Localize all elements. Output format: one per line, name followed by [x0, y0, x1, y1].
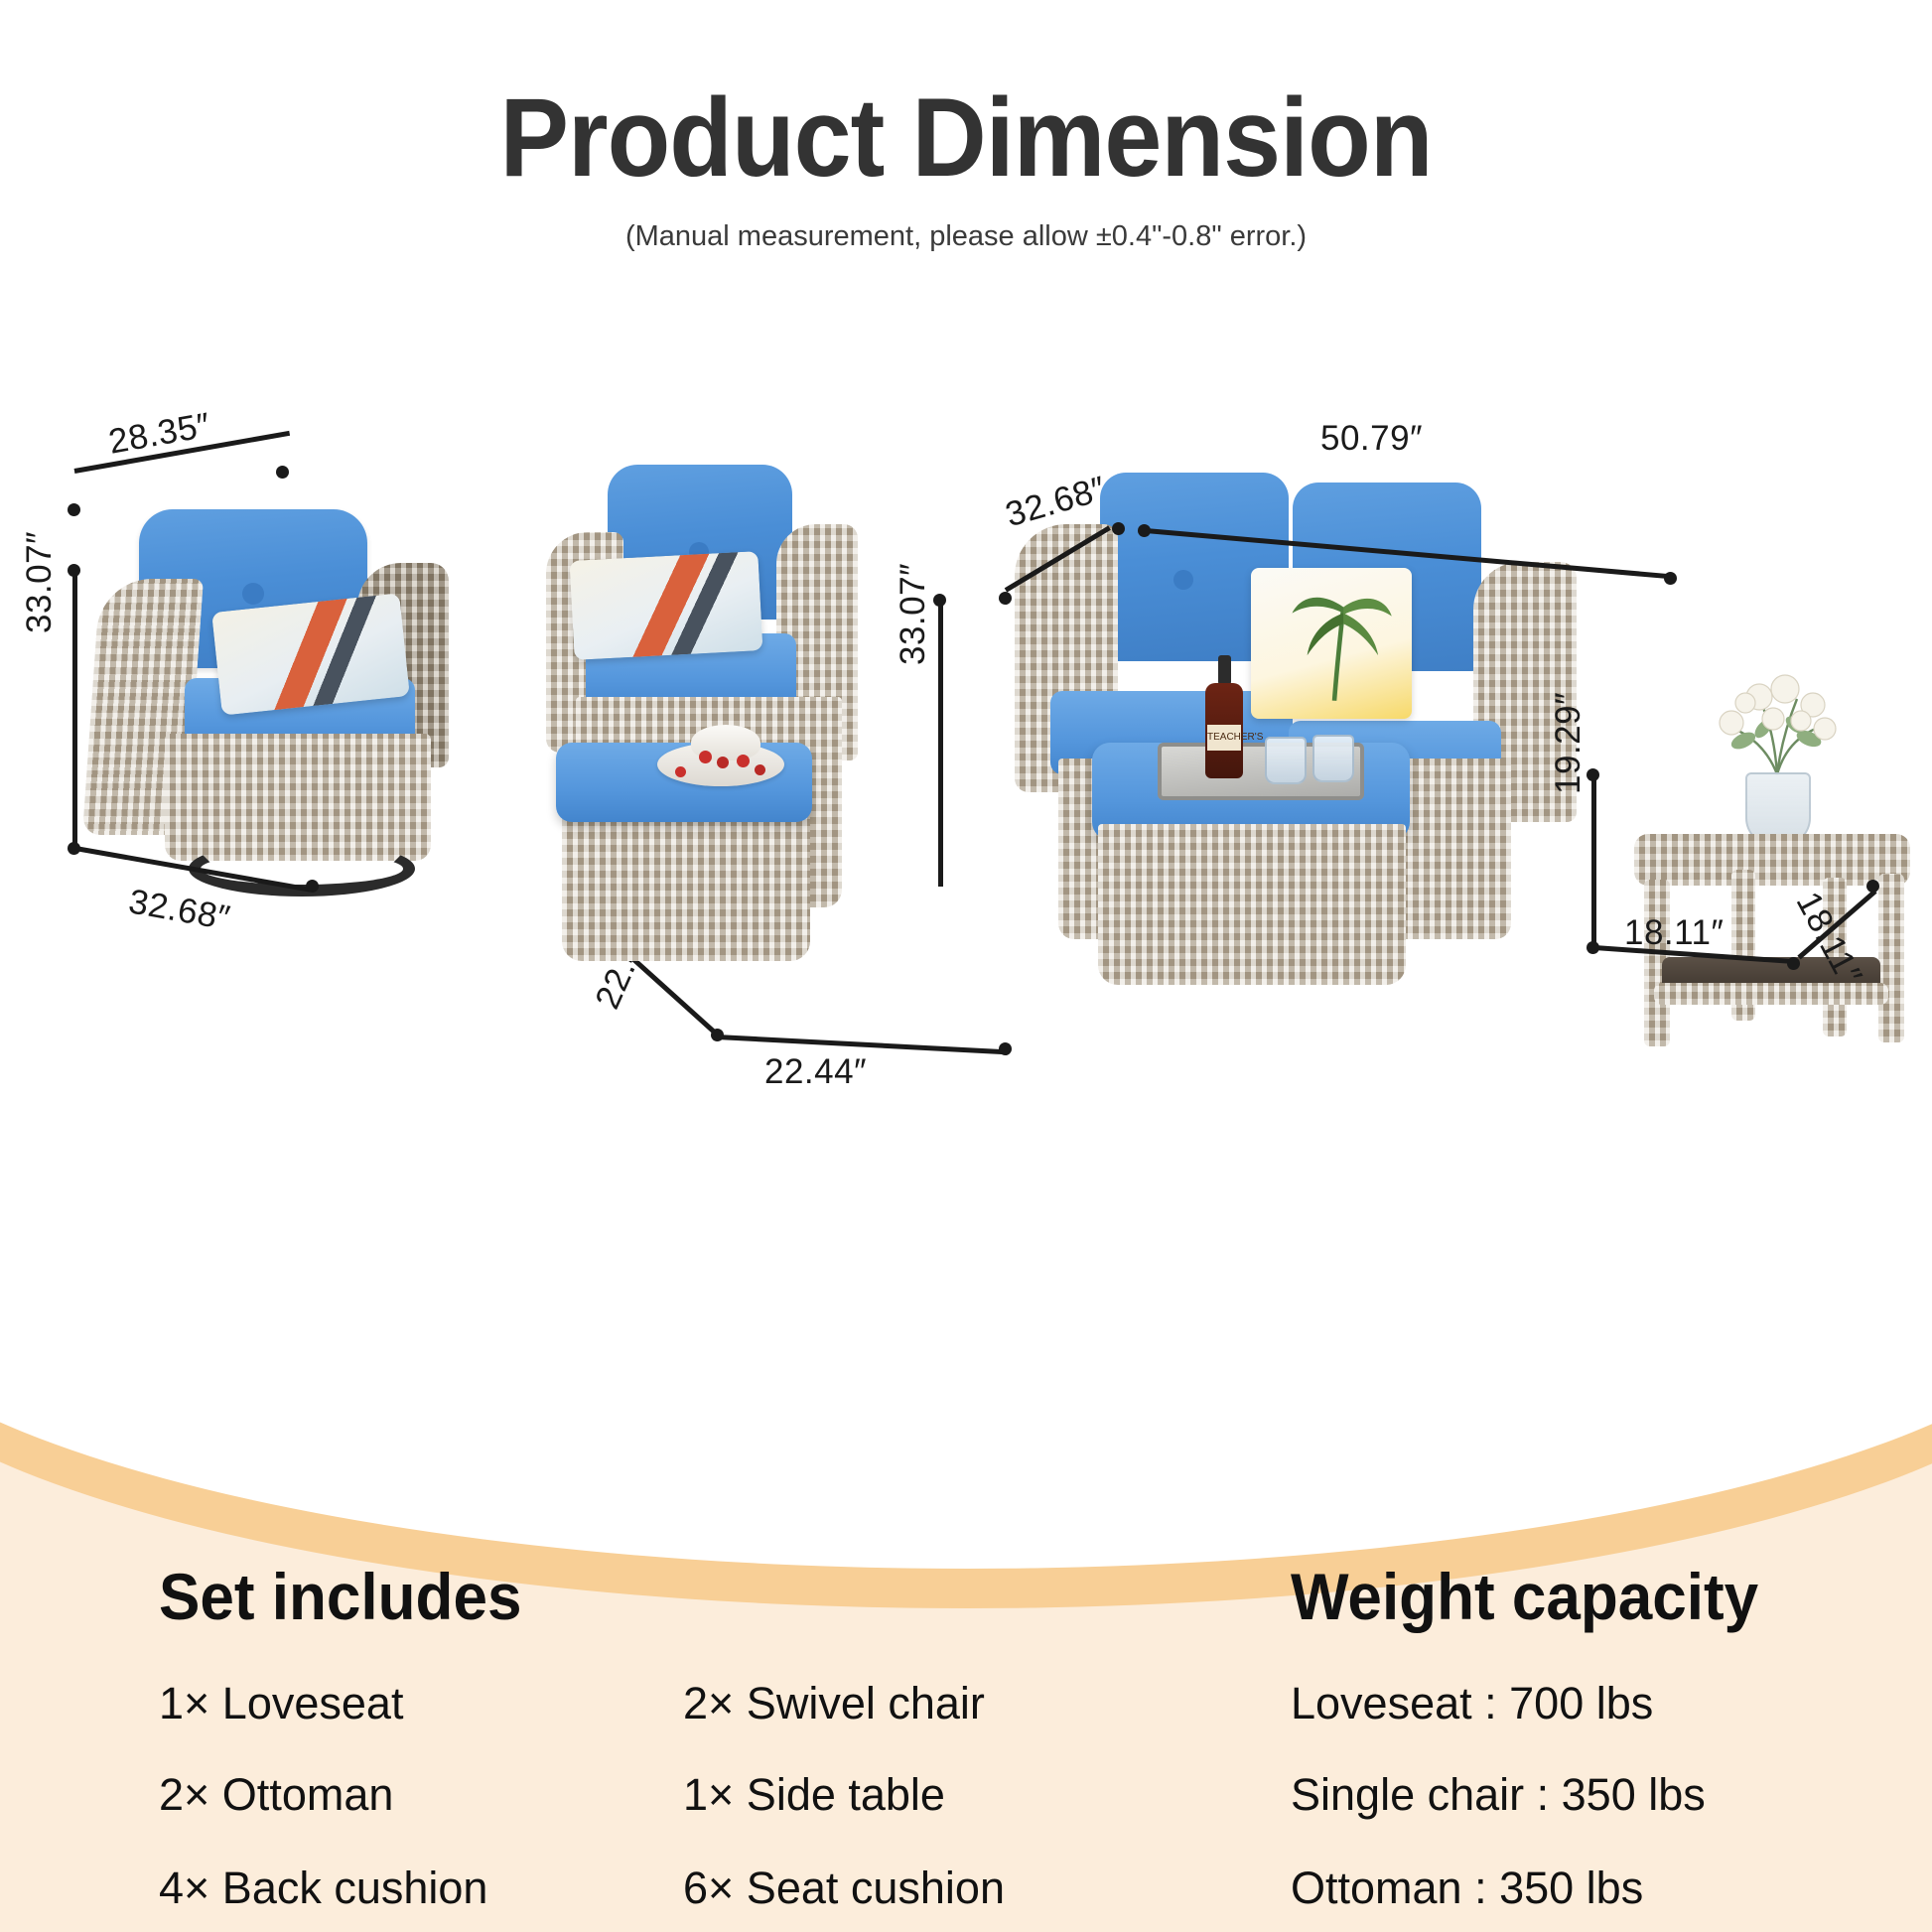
- flower-arrangement: [1698, 663, 1857, 782]
- side-table-leg: [1878, 874, 1904, 1042]
- set-includes-item: 1× Loveseat: [159, 1678, 403, 1729]
- front-ottoman-illustration: TEACHER'S: [1084, 725, 1451, 993]
- weight-capacity-item: Ottoman : 350 lbs: [1291, 1863, 1643, 1914]
- front-ottoman-base: [1098, 824, 1406, 985]
- loveseat-palm-pillow: [1251, 568, 1412, 719]
- chair-throw-pillow: [211, 593, 410, 715]
- weight-capacity-heading: Weight capacity: [1291, 1559, 1758, 1634]
- set-includes-item: 6× Seat cushion: [683, 1863, 1005, 1914]
- berry-icon: [699, 751, 712, 763]
- mid-chair-throw-pillow: [570, 551, 763, 660]
- set-includes-item: 2× Swivel chair: [683, 1678, 985, 1729]
- berry-icon: [755, 764, 765, 775]
- weight-capacity-item: Loveseat : 700 lbs: [1291, 1678, 1653, 1729]
- chair-with-ottoman-illustration: [516, 457, 943, 973]
- palm-tree-icon: [1251, 568, 1412, 719]
- set-includes-item: 1× Side table: [683, 1769, 945, 1821]
- swivel-chair-illustration: [77, 491, 494, 908]
- glass-icon: [1312, 735, 1354, 782]
- tuft-button-icon: [1173, 570, 1193, 590]
- weight-capacity-item: Single chair : 350 lbs: [1291, 1769, 1706, 1821]
- bottle-icon: TEACHER'S: [1205, 655, 1243, 778]
- tuft-button-icon: [242, 583, 264, 605]
- berry-icon: [737, 755, 750, 767]
- set-includes-heading: Set includes: [159, 1559, 521, 1634]
- ottoman-base: [562, 806, 810, 961]
- glass-icon: [1265, 737, 1307, 784]
- berry-icon: [717, 757, 729, 768]
- furniture-scene: 28.35″ 33.07″ 32.68″: [0, 397, 1932, 1211]
- product-dimension-infographic: Product Dimension (Manual measurement, p…: [0, 0, 1932, 1932]
- set-includes-item: 4× Back cushion: [159, 1863, 487, 1914]
- set-includes-item: 2× Ottoman: [159, 1769, 393, 1821]
- side-table-top: [1634, 834, 1910, 886]
- berry-icon: [675, 766, 686, 777]
- measurement-disclaimer: (Manual measurement, please allow ±0.4"-…: [0, 220, 1932, 253]
- flowers-icon: [1698, 663, 1857, 782]
- page-title: Product Dimension: [68, 73, 1864, 202]
- side-table-shelf-frame: [1654, 983, 1888, 1005]
